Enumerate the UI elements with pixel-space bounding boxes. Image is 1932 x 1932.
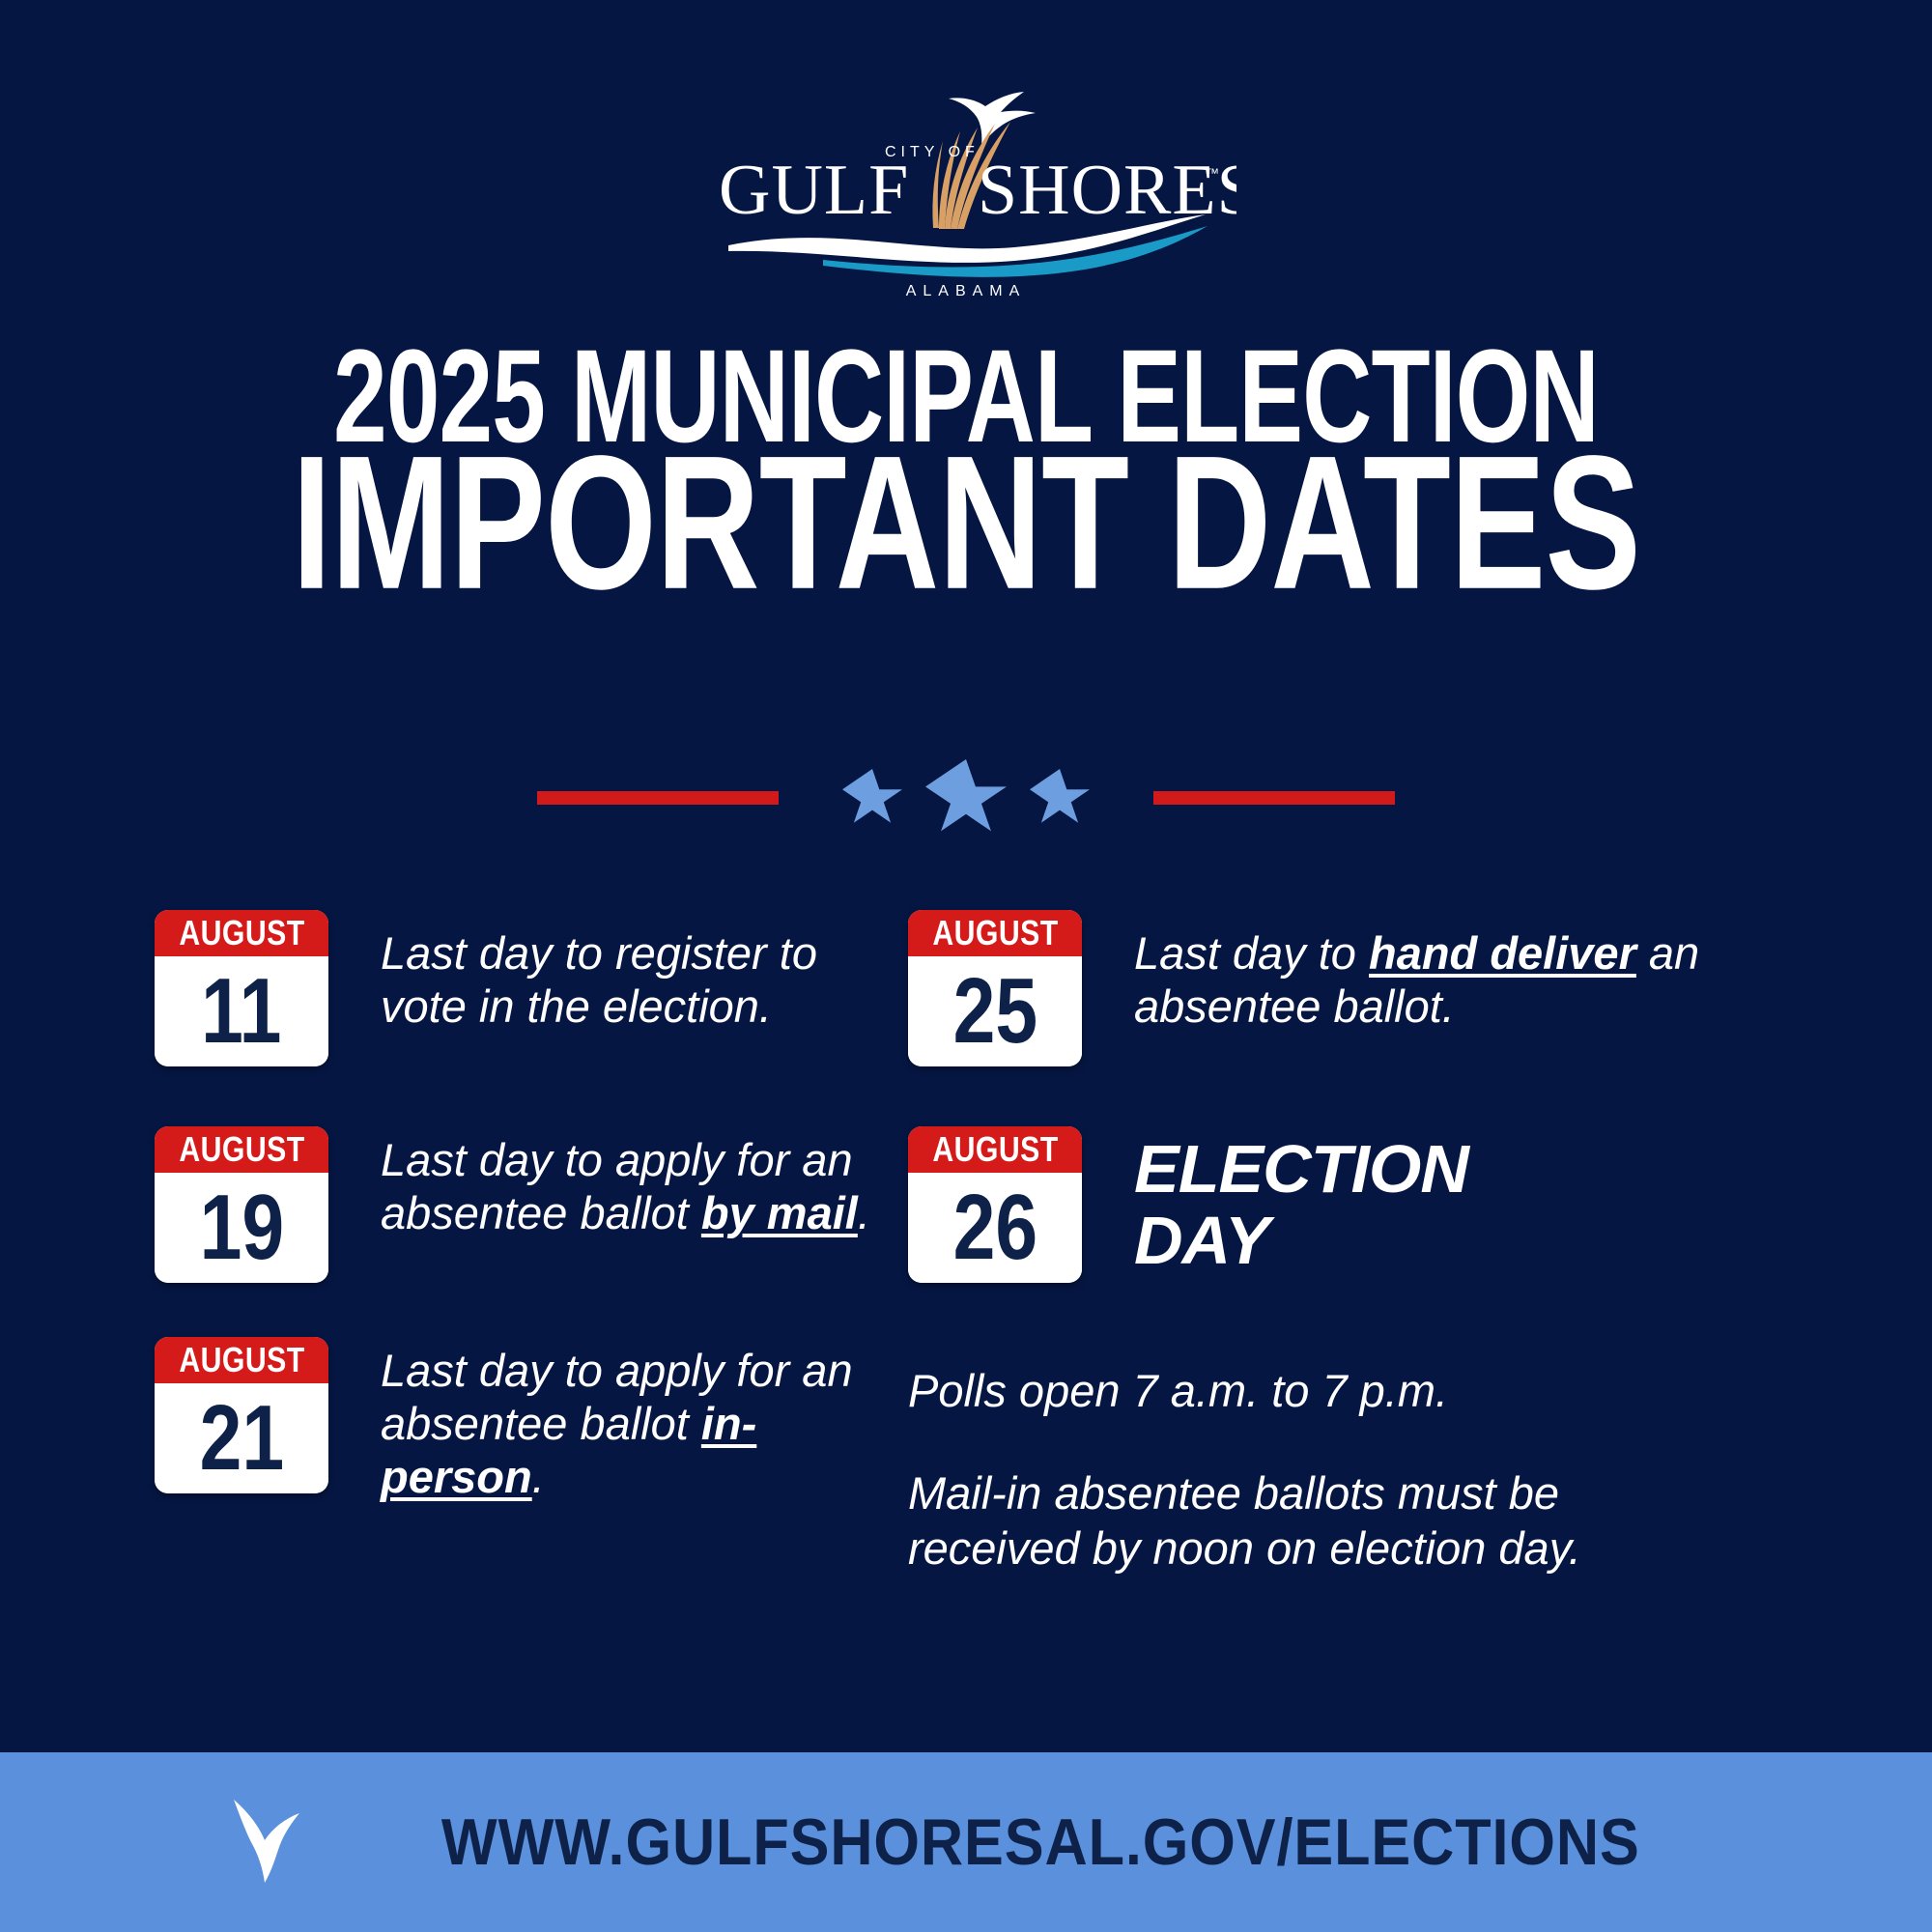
calendar-badge: AUGUST 19 <box>155 1126 328 1283</box>
star-icon-left <box>842 769 902 827</box>
election-day-line-1: ELECTION <box>1134 1134 1468 1206</box>
calendar-day-area: 25 <box>908 956 1082 1066</box>
calendar-month-bar: AUGUST <box>908 1126 1082 1173</box>
calendar-badge: AUGUST 26 <box>908 1126 1082 1283</box>
elections-url[interactable]: WWW.GULFSHORESAL.GOV/ELECTIONS <box>441 1804 1640 1880</box>
calendar-badge: AUGUST 21 <box>155 1337 328 1493</box>
calendar-month-bar: AUGUST <box>908 910 1082 956</box>
logo-gulf-text: GULF <box>719 151 909 230</box>
calendar-month-label: AUGUST <box>179 913 304 953</box>
star-icon-right <box>1030 769 1090 827</box>
calendar-month-bar: AUGUST <box>155 1126 328 1173</box>
calendar-badge: AUGUST 11 <box>155 910 328 1066</box>
date-item-aug-21: AUGUST 21 Last day to apply for an absen… <box>155 1337 908 1504</box>
calendar-month-label: AUGUST <box>932 913 1058 953</box>
calendar-day-area: 19 <box>155 1173 328 1283</box>
date-item-aug-25: AUGUST 25 Last day to hand deliver an ab… <box>908 910 1816 1066</box>
calendar-day-area: 21 <box>155 1383 328 1493</box>
logo-trademark: ™ <box>1206 165 1219 181</box>
divider-rule-left <box>537 791 779 805</box>
date-description-tail: . <box>532 1451 545 1502</box>
divider-rule-right <box>1153 791 1395 805</box>
calendar-day-label: 26 <box>952 1181 1037 1274</box>
dates-column-right: AUGUST 25 Last day to hand deliver an ab… <box>908 910 1816 1702</box>
date-description: Last day to apply for an absentee ballot… <box>381 1337 908 1504</box>
date-item-aug-26: AUGUST 26 ELECTION DAY <box>908 1126 1816 1283</box>
date-item-aug-19: AUGUST 19 Last day to apply for an absen… <box>155 1126 908 1283</box>
polls-hours-note: Polls open 7 a.m. to 7 p.m. <box>908 1364 1671 1418</box>
star-icon-center <box>925 759 1007 837</box>
gulf-shores-logo-graphic: CITY OF GULF SHORES ™ ALABAMA <box>696 85 1236 307</box>
title-line-2: IMPORTANT DATES <box>193 436 1739 611</box>
calendar-month-label: AUGUST <box>179 1340 304 1380</box>
election-day-heading: ELECTION DAY <box>1134 1126 1468 1276</box>
date-description-text: Last day to <box>1134 927 1369 979</box>
calendar-day-label: 21 <box>199 1392 284 1485</box>
date-description-emphasis: by mail <box>701 1187 858 1238</box>
seagull-icon <box>226 1794 332 1890</box>
city-logo: CITY OF GULF SHORES ™ ALABAMA <box>0 85 1932 307</box>
calendar-day-area: 11 <box>155 956 328 1066</box>
date-description: Last day to hand deliver an absentee bal… <box>1134 910 1733 1034</box>
date-description: Last day to apply for an absentee ballot… <box>381 1126 908 1240</box>
dates-column-left: AUGUST 11 Last day to register to vote i… <box>0 910 908 1702</box>
calendar-month-bar: AUGUST <box>155 1337 328 1383</box>
date-description-text: Last day to apply for an absentee ballot <box>381 1345 853 1449</box>
calendar-badge: AUGUST 25 <box>908 910 1082 1066</box>
calendar-day-label: 25 <box>952 965 1037 1058</box>
footer-bar: WWW.GULFSHORESAL.GOV/ELECTIONS <box>0 1752 1932 1932</box>
mail-in-deadline-note: Mail-in absentee ballots must be receive… <box>908 1466 1671 1576</box>
star-divider <box>0 759 1932 837</box>
calendar-day-label: 11 <box>201 965 281 1058</box>
date-item-aug-11: AUGUST 11 Last day to register to vote i… <box>155 910 908 1066</box>
calendar-day-label: 19 <box>199 1181 284 1274</box>
logo-shores-text: SHORES <box>978 151 1236 230</box>
date-description-emphasis: hand deliver <box>1369 927 1636 979</box>
important-dates-grid: AUGUST 11 Last day to register to vote i… <box>0 910 1932 1702</box>
election-infographic: CITY OF GULF SHORES ™ ALABAMA 2025 MUNIC… <box>0 0 1932 1932</box>
logo-state-text: ALABAMA <box>906 283 1027 299</box>
seagull-icon <box>949 92 1036 146</box>
calendar-month-bar: AUGUST <box>155 910 328 956</box>
date-description-tail: . <box>858 1187 870 1238</box>
calendar-day-area: 26 <box>908 1173 1082 1283</box>
calendar-month-label: AUGUST <box>179 1129 304 1170</box>
date-description: Last day to register to vote in the elec… <box>381 910 908 1034</box>
page-title: 2025 MUNICIPAL ELECTION IMPORTANT DATES <box>0 340 1932 606</box>
date-description-text: Last day to register to vote in the elec… <box>381 927 817 1032</box>
election-day-line-2: DAY <box>1134 1206 1468 1277</box>
calendar-month-label: AUGUST <box>932 1129 1058 1170</box>
